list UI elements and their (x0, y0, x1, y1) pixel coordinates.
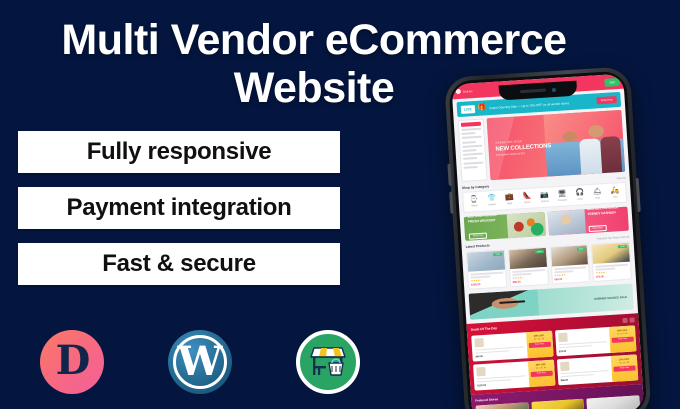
deal-offer: 30% OFF 02 : 14 : 39 Grab Now (526, 331, 554, 359)
hero-row: TRENDING NOW NEW COLLECTIONS Kids fashio… (458, 110, 626, 182)
category-item[interactable]: 🖥 Computer (554, 190, 570, 202)
product-card[interactable]: NEW ★★★★☆ $129.00 (466, 249, 507, 289)
product-body: ★★★★☆ $129.00 (468, 269, 506, 288)
watch-icon: ⌚ (466, 196, 481, 205)
deal-thumbnail (476, 367, 486, 377)
product-row: NEW ★★★★☆ $129.00 NEW ★★★★☆ (466, 242, 632, 290)
feature-box-responsive: Fully responsive (18, 131, 340, 173)
category-sidebar-item[interactable] (462, 136, 482, 139)
section-title: Shop by Category (462, 184, 489, 190)
gift-icon: 🎁 (478, 104, 487, 112)
announcement-text: Grand Opening Sale — Up to 70% OFF on al… (489, 99, 594, 110)
hero-model-b (600, 136, 623, 173)
product-body: ★★★★☆ $89.00 (510, 267, 548, 286)
phone-speaker (520, 89, 546, 94)
category-label: Fashion (485, 204, 500, 207)
sell-button[interactable]: Sell (604, 77, 619, 86)
deal-price: $32.00 (559, 347, 608, 353)
feature-box-fast-secure: Fast & secure (18, 243, 340, 285)
category-sidebar-item[interactable] (463, 149, 477, 152)
hero-banner[interactable]: TRENDING NOW NEW COLLECTIONS Kids fashio… (487, 110, 626, 180)
promo-copy: MEGA SALE THIS SEASON TRENDY FASHION Sho… (583, 207, 629, 235)
product-badge: NEW (576, 247, 585, 251)
product-card[interactable]: NEW ★★★★★ $59.00 (549, 244, 590, 284)
product-badge: NEW (618, 245, 627, 249)
tools-icon: 🛎 (590, 188, 605, 197)
deal-price: $45.00 (475, 352, 524, 358)
deal-countdown: 02 : 14 : 39 (528, 338, 550, 341)
deal-card[interactable]: $68.00 15% OFF 02 : 14 : 39 Grab Now (556, 354, 638, 385)
phone-screen: Dokan Track Order | Help Sell LIVE 🎁 Gra… (451, 74, 644, 409)
category-label: Auto (608, 196, 623, 199)
brand-mark-icon (456, 89, 461, 94)
computer-icon: 🖥 (554, 190, 569, 199)
category-sidebar-item[interactable] (463, 153, 483, 156)
deal-offer: 15% OFF 02 : 14 : 39 Grab Now (611, 354, 639, 382)
feature-label: Fully responsive (87, 138, 272, 166)
feature-label: Payment integration (66, 194, 291, 222)
headphone-icon: 🎧 (572, 189, 587, 198)
category-item[interactable]: 📷 Camera (537, 191, 553, 203)
product-title-placeholder (470, 272, 503, 276)
deal-price: $68.00 (561, 376, 610, 382)
category-label: Shoes (520, 201, 535, 204)
feature-label: Fast & secure (102, 250, 256, 278)
deal-button[interactable]: Grab Now (528, 342, 550, 348)
deal-info: $120.00 (473, 361, 529, 390)
wordpress-logo: W (168, 330, 232, 394)
category-label: Tools (590, 197, 605, 200)
product-title-placeholder (512, 269, 545, 273)
brand-name: Dokan (463, 89, 473, 94)
shop-stall-icon (308, 344, 348, 380)
deal-price: $120.00 (477, 381, 526, 387)
wordpress-logo-letter: W (178, 342, 223, 382)
hero-model-a (579, 139, 601, 175)
category-sidebar-item[interactable] (461, 132, 475, 135)
category-item[interactable]: 🛎 Tools (590, 188, 606, 200)
deals-title: Deals Of The Day (471, 326, 497, 332)
headline-line-1: Multi Vendor eCommerce (0, 16, 628, 64)
deal-card[interactable]: $32.00 25% OFF 02 : 14 : 39 Grab Now (555, 325, 637, 356)
store-image (587, 395, 640, 409)
deal-thumbnail (560, 362, 570, 372)
product-card[interactable]: NEW ★★★★☆ $89.00 (508, 247, 549, 287)
product-body: ★★★★☆ $75.00 (593, 262, 631, 281)
deal-card[interactable]: $120.00 40% OFF 02 : 14 : 39 Grab Now (473, 359, 555, 390)
deals-grid: $45.00 30% OFF 02 : 14 : 39 Grab Now (471, 325, 638, 390)
product-body: ★★★★★ $59.00 (552, 264, 590, 283)
category-label: Camera (537, 200, 552, 203)
category-sidebar-item[interactable] (463, 157, 477, 160)
product-card[interactable]: NEW ★★★★☆ $75.00 (591, 242, 632, 282)
category-item[interactable]: 🛵 Auto (607, 187, 623, 199)
logo-row: D W (40, 326, 360, 398)
shirt-icon: 👕 (484, 195, 499, 204)
store-image (531, 399, 584, 409)
promo-copy: BEST OFFER THIS WEEK FRESH GROCERY Shop … (464, 213, 510, 241)
deal-info: $32.00 (555, 327, 611, 356)
product-title-placeholder (595, 264, 628, 268)
category-sidebar-item[interactable] (464, 166, 478, 169)
category-sidebar-item[interactable] (462, 141, 476, 144)
deal-card[interactable]: $45.00 30% OFF 02 : 14 : 39 Grab Now (471, 331, 553, 362)
deal-button[interactable]: Grab Now (530, 371, 552, 377)
deal-info: $45.00 (471, 332, 527, 361)
deal-button[interactable]: Grab Now (613, 365, 635, 371)
deal-countdown: 02 : 14 : 39 (613, 361, 635, 364)
deal-info: $68.00 (556, 356, 612, 385)
feature-list: Fully responsive Payment integration Fas… (18, 131, 340, 299)
promo-image (547, 209, 585, 235)
hero-image (543, 110, 625, 177)
store-image (476, 402, 529, 409)
chevron-right-icon[interactable] (629, 317, 634, 322)
site-brand[interactable]: Dokan (456, 88, 473, 94)
chevron-left-icon[interactable] (622, 318, 627, 323)
store-card[interactable] (531, 399, 585, 409)
category-label: Computer (555, 199, 570, 202)
category-sidebar-item[interactable] (461, 128, 481, 131)
product-title-placeholder (554, 266, 587, 270)
category-item[interactable]: 🎧 Audio (572, 189, 588, 201)
promo-button[interactable]: Shop Now (588, 225, 606, 232)
announcement-cta-button[interactable]: Shop Now (597, 96, 617, 104)
deal-button[interactable]: Grab Now (612, 336, 634, 342)
feature-box-payment: Payment integration (18, 187, 340, 229)
promo-banner-canvas: Multi Vendor eCommerce Website Fully res… (0, 0, 680, 409)
category-item[interactable]: 💼 Bags (502, 194, 518, 206)
deals-section: Deals Of The Day $45.00 (466, 313, 642, 395)
store-card[interactable] (476, 402, 530, 409)
deal-offer: 25% OFF 02 : 14 : 39 Grab Now (609, 325, 637, 353)
deal-countdown: 02 : 14 : 39 (530, 367, 552, 370)
dokan-logo-letter: D (56, 341, 89, 381)
dokan-logo: D (40, 330, 104, 394)
hero-copy: TRENDING NOW NEW COLLECTIONS Kids fashio… (488, 137, 552, 157)
category-sidebar-item[interactable] (463, 161, 483, 164)
section-links[interactable]: Featured Top Rated View All (597, 235, 630, 240)
promo-card-grocery[interactable]: BEST OFFER THIS WEEK FRESH GROCERY Shop … (464, 212, 546, 241)
auto-icon: 🛵 (607, 187, 622, 196)
marketplace-shop-icon (296, 330, 360, 394)
category-item[interactable]: 👕 Fashion (484, 195, 500, 207)
category-sidebar-header (461, 122, 481, 127)
promo-card-fashion[interactable]: MEGA SALE THIS SEASON TRENDY FASHION Sho… (547, 207, 629, 236)
announcement-badge: LIVE (461, 105, 475, 114)
category-item[interactable]: 👠 Shoes (519, 192, 535, 204)
product-badge: NEW (493, 253, 502, 257)
store-card[interactable] (587, 395, 641, 409)
category-item[interactable]: ⌚ Watch (466, 196, 482, 208)
bag-icon: 💼 (502, 194, 517, 203)
category-label: Watch (467, 205, 482, 208)
product-badge: NEW (535, 250, 544, 254)
camera-icon: 📷 (537, 191, 552, 200)
deal-countdown: 02 : 14 : 39 (611, 332, 633, 335)
category-label: Audio (573, 198, 588, 201)
phone-front-camera (552, 87, 556, 91)
promo-button[interactable]: Shop Now (469, 233, 487, 240)
category-sidebar-item[interactable] (462, 144, 482, 147)
category-sidebar[interactable] (458, 119, 488, 183)
section-title: Latest Products (466, 243, 490, 249)
promo-image (507, 212, 545, 238)
deals-carousel-nav[interactable] (622, 317, 634, 323)
section-links[interactable]: View All (616, 176, 625, 180)
deal-thumbnail (474, 338, 484, 348)
banner-text: SUMMER SHADES SALE (594, 294, 633, 300)
deal-thumbnail (558, 333, 568, 343)
shoe-icon: 👠 (519, 192, 534, 201)
category-label: Bags (502, 203, 517, 206)
deal-offer: 40% OFF 02 : 14 : 39 Grab Now (527, 359, 555, 387)
banner-model-image (469, 289, 539, 319)
smartphone-mockup: Dokan Track Order | Help Sell LIVE 🎁 Gra… (444, 66, 652, 409)
